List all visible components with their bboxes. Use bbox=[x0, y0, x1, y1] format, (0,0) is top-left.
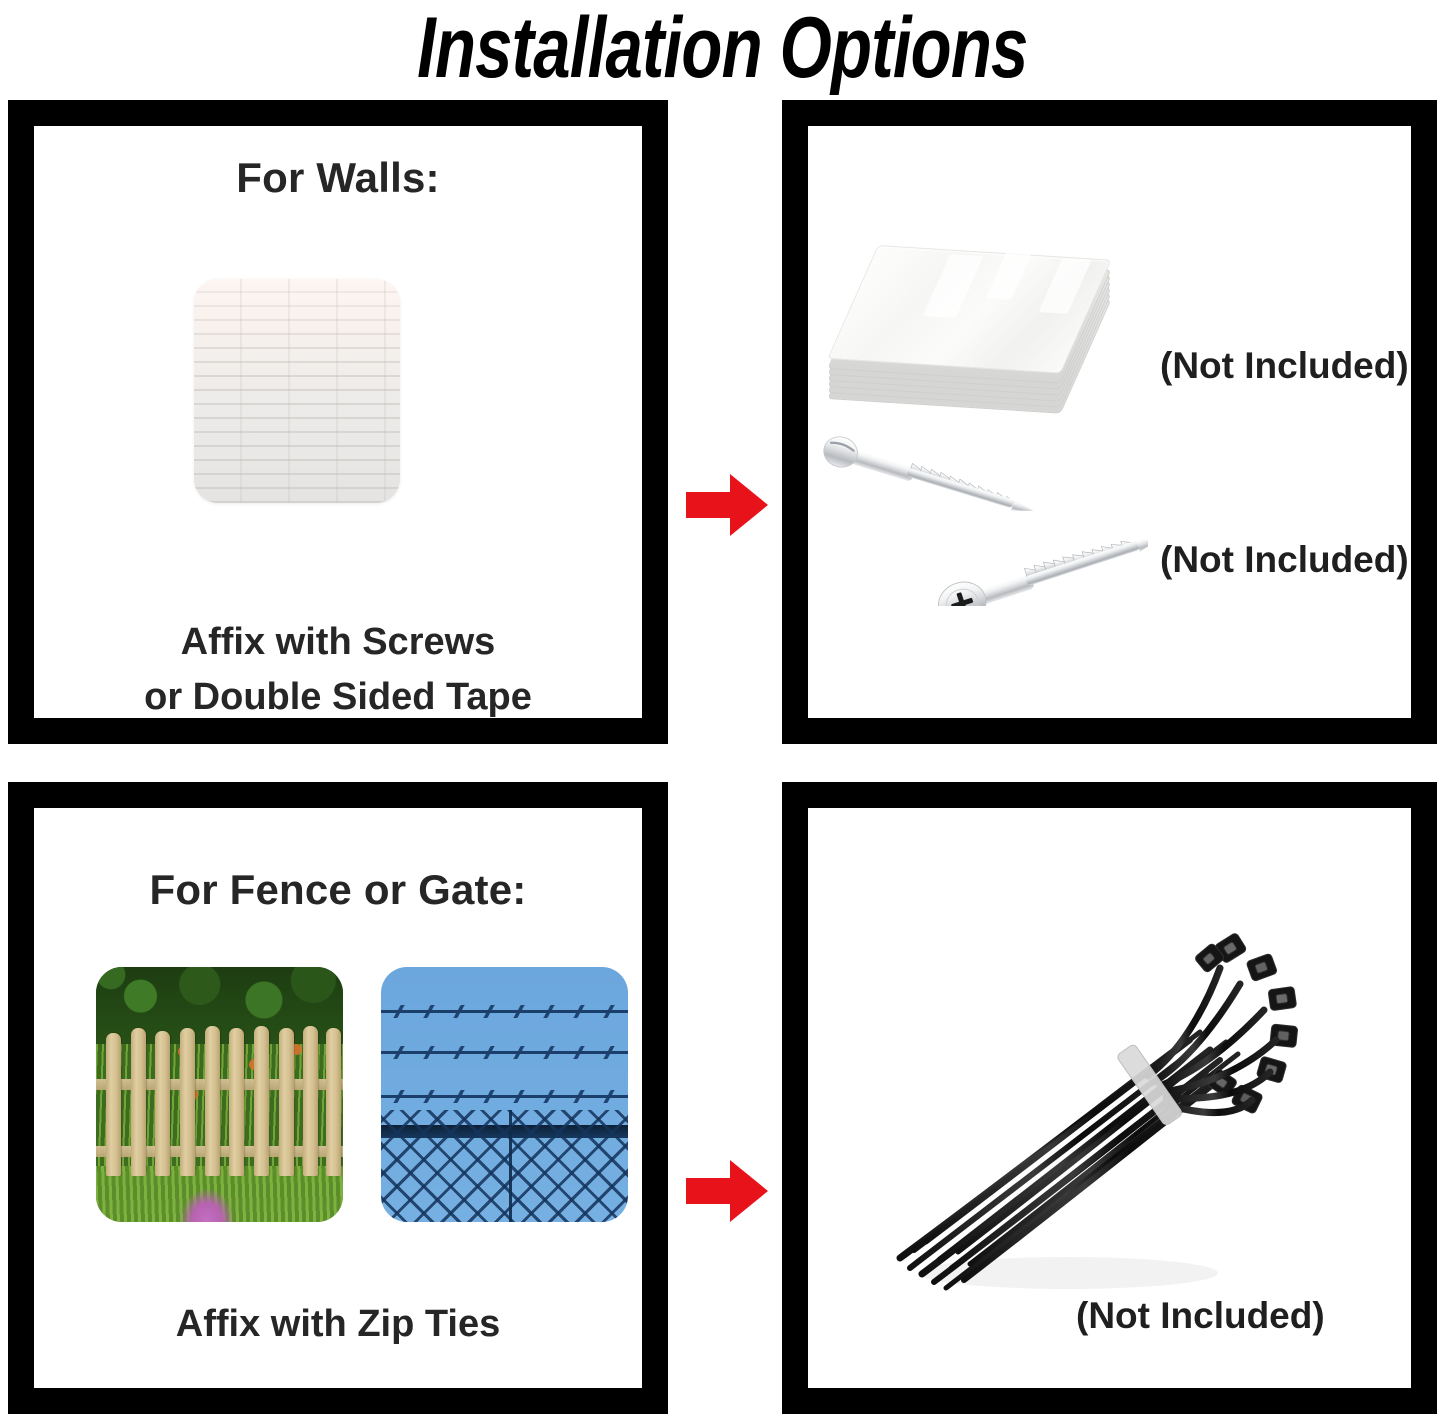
silver-screws-image bbox=[818, 416, 1148, 606]
white-brick-wall-image bbox=[194, 279, 400, 503]
walls-caption-line-2: or Double Sided Tape bbox=[34, 671, 642, 723]
picket-fence-photo bbox=[96, 967, 343, 1222]
walls-caption-line-1: Affix with Screws bbox=[34, 616, 642, 668]
walls-heading: For Walls: bbox=[34, 154, 642, 202]
chain-link-fence-photo bbox=[381, 967, 628, 1222]
panel-for-fence-content: For Fence or Gate: bbox=[34, 808, 642, 1388]
tape-not-included-label: (Not Included) bbox=[1160, 345, 1409, 387]
panel-fence-hardware-content: (Not Included) bbox=[808, 808, 1411, 1388]
panel-for-walls: For Walls: Affix with Screws or Double S… bbox=[8, 100, 668, 744]
panel-wall-hardware: (Not Included) bbox=[782, 100, 1437, 744]
red-right-arrow-icon-top bbox=[686, 474, 768, 536]
installation-options-grid: For Walls: Affix with Screws or Double S… bbox=[0, 96, 1445, 1422]
zip-ties-image bbox=[848, 928, 1308, 1308]
panel-fence-hardware: (Not Included) bbox=[782, 782, 1437, 1414]
red-right-arrow-icon-bottom bbox=[686, 1160, 768, 1222]
fence-heading: For Fence or Gate: bbox=[34, 866, 642, 914]
panel-for-walls-content: For Walls: Affix with Screws or Double S… bbox=[34, 126, 642, 718]
panel-for-fence-or-gate: For Fence or Gate: bbox=[8, 782, 668, 1414]
double-sided-tape-image bbox=[878, 241, 1136, 401]
panel-wall-hardware-content: (Not Included) bbox=[808, 126, 1411, 718]
page-title-bar: Installation Options bbox=[0, 0, 1445, 96]
screws-not-included-label: (Not Included) bbox=[1160, 539, 1409, 581]
page-title: Installation Options bbox=[417, 2, 1027, 94]
fence-caption: Affix with Zip Ties bbox=[34, 1298, 642, 1350]
zipties-not-included-label: (Not Included) bbox=[1076, 1295, 1325, 1337]
